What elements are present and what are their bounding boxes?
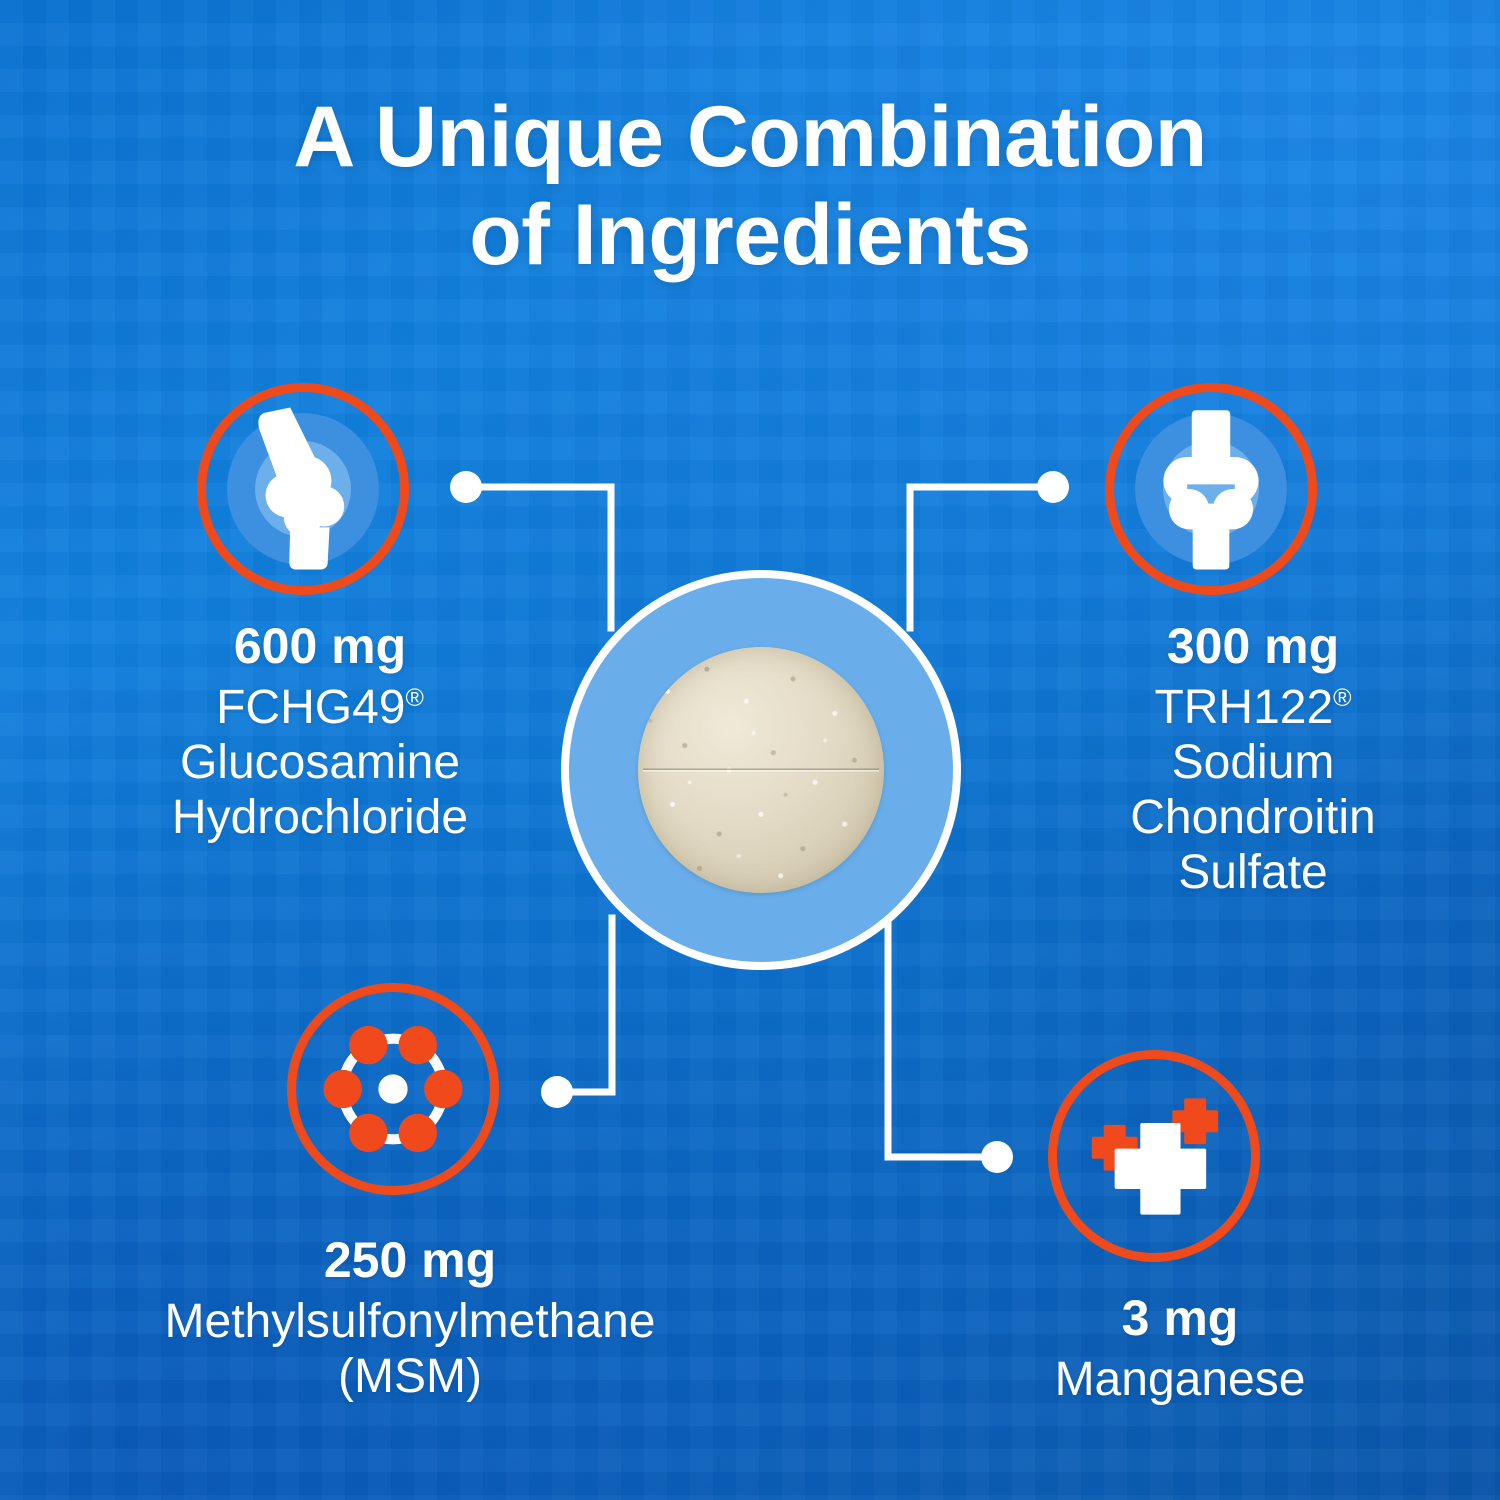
ingredient-text-msm: 250 mg Methylsulfonylmethane (MSM)	[60, 1232, 760, 1404]
ingredient-icon-badge-msm	[287, 983, 499, 1195]
ingredient-name-line: FCHG49®	[95, 680, 545, 735]
ingredient-text-manganese: 3 mg Manganese	[960, 1290, 1400, 1407]
registered-trademark-symbol: ®	[1333, 684, 1351, 712]
ingredient-name-line: Hydrochloride	[95, 790, 545, 845]
connector-path-bottom-left	[562, 918, 612, 1092]
connector-path-top-right	[910, 487, 1053, 628]
molecule-icon	[296, 992, 490, 1186]
tablet-image	[638, 647, 884, 893]
tablet-score-line	[643, 769, 879, 772]
knee-joint-bent-icon	[206, 392, 400, 586]
ingredient-icon-badge-chondroitin	[1105, 383, 1317, 595]
ingredient-name-line: Glucosamine	[95, 735, 545, 790]
ingredient-name-line: Sodium	[1058, 735, 1448, 790]
ingredient-dose: 600 mg	[95, 618, 545, 676]
ingredient-dose: 3 mg	[960, 1290, 1400, 1348]
connector-dot-top-right	[1037, 471, 1069, 503]
registered-trademark-symbol: ®	[405, 684, 423, 712]
ingredient-name-line: Manganese	[960, 1352, 1400, 1407]
knee-joint-straight-icon	[1114, 392, 1308, 586]
ingredient-dose: 300 mg	[1058, 618, 1448, 676]
medical-plus-icon	[1057, 1059, 1251, 1253]
page-title: A Unique Combination of Ingredients	[0, 88, 1500, 284]
ingredient-name-line: Sulfate	[1058, 845, 1448, 900]
ingredients-infographic: A Unique Combination of Ingredients	[0, 0, 1500, 1500]
page-title-line-1: A Unique Combination	[0, 88, 1500, 186]
connector-path-bottom-right	[888, 918, 992, 1157]
page-title-line-2: of Ingredients	[0, 186, 1500, 284]
connector-path-top-left	[466, 487, 611, 628]
connector-dot-top-left	[450, 471, 482, 503]
connector-dot-bottom-left	[541, 1076, 573, 1108]
center-tablet-circle	[561, 570, 961, 970]
ingredient-name-line: (MSM)	[60, 1349, 760, 1404]
ingredient-name-line: Chondroitin	[1058, 790, 1448, 845]
ingredient-text-glucosamine: 600 mg FCHG49® Glucosamine Hydrochloride	[95, 618, 545, 845]
ingredient-icon-badge-manganese	[1048, 1050, 1260, 1262]
ingredient-text-chondroitin: 300 mg TRH122® Sodium Chondroitin Sulfat…	[1058, 618, 1448, 900]
connector-dot-bottom-right	[981, 1141, 1013, 1173]
ingredient-name-line: Methylsulfonylmethane	[60, 1294, 760, 1349]
ingredient-dose: 250 mg	[60, 1232, 760, 1290]
ingredient-name-line: TRH122®	[1058, 680, 1448, 735]
ingredient-icon-badge-glucosamine	[197, 383, 409, 595]
